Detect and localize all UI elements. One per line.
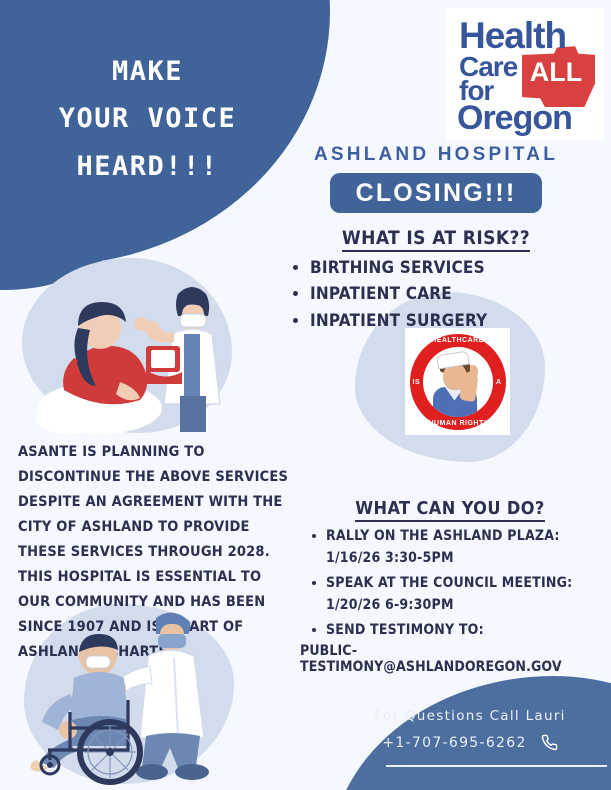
risk-list: BIRTHING SERVICES INPATIENT CARE INPATIE… [286,255,586,334]
poster-canvas: Health Care for ALL Oregon MAKE YOUR VOI… [0,0,611,790]
list-item: SPEAK AT THE COUNCIL MEETING: 1/20/26 6-… [310,572,600,617]
alert-subject: ASHLAND HOSPITAL [286,144,586,166]
logo-line-oregon: Oregon [457,101,572,135]
illustration-nurse-with-wheelchair-patient [28,600,233,785]
page-title: MAKE YOUR VOICE HEARD!!! [30,48,265,190]
alert-section: ASHLAND HOSPITAL CLOSING!!! WHAT IS AT R… [286,144,586,334]
list-item: INPATIENT CARE [290,281,586,307]
risk-heading: WHAT IS AT RISK?? [286,227,586,249]
logo-word-all: ALL [521,59,591,86]
organization-logo: Health Care for ALL Oregon [446,8,604,140]
phone-icon [541,734,558,751]
emblem-text-left: IS [413,379,421,386]
hero-line-3: HEARD!!! [30,143,265,190]
testimony-email[interactable]: PUBLIC-TESTIMONY@ASHLANDOREGON.GOV [300,643,600,675]
contact-phone-number[interactable]: +1-707-695-6262 [382,735,526,751]
logo-line-health: Health [459,17,566,54]
emblem-text-top: HEALTHCARE [431,337,484,344]
emblem-text-right: A [496,379,502,386]
healthcare-human-right-emblem: HEALTHCARE IS A HUMAN RIGHT! [405,328,510,435]
actions-list: RALLY ON THE ASHLAND PLAZA: 1/16/26 3:30… [300,525,600,641]
list-item: RALLY ON THE ASHLAND PLAZA: 1/16/26 3:30… [310,525,600,570]
illustration-doctor-and-pregnant-patient [28,258,233,438]
contact-footer: For Questions Call Lauri +1-707-695-6262 [350,708,590,751]
hero-line-1: MAKE [30,48,265,95]
list-item: BIRTHING SERVICES [290,255,586,281]
hero-line-2: YOUR VOICE [30,95,265,142]
contact-phone-row[interactable]: +1-707-695-6262 [350,734,590,751]
footer-divider [386,765,607,767]
call-to-action-section: WHAT CAN YOU DO? RALLY ON THE ASHLAND PL… [300,498,600,675]
status-badge-label: CLOSING!!! [356,179,517,208]
contact-label: For Questions Call Lauri [350,708,590,724]
actions-heading: WHAT CAN YOU DO? [300,498,600,519]
emblem-text-bottom: HUMAN RIGHT! [428,420,486,427]
status-badge: CLOSING!!! [330,173,542,213]
list-item: SEND TESTIMONY TO: [310,619,600,641]
